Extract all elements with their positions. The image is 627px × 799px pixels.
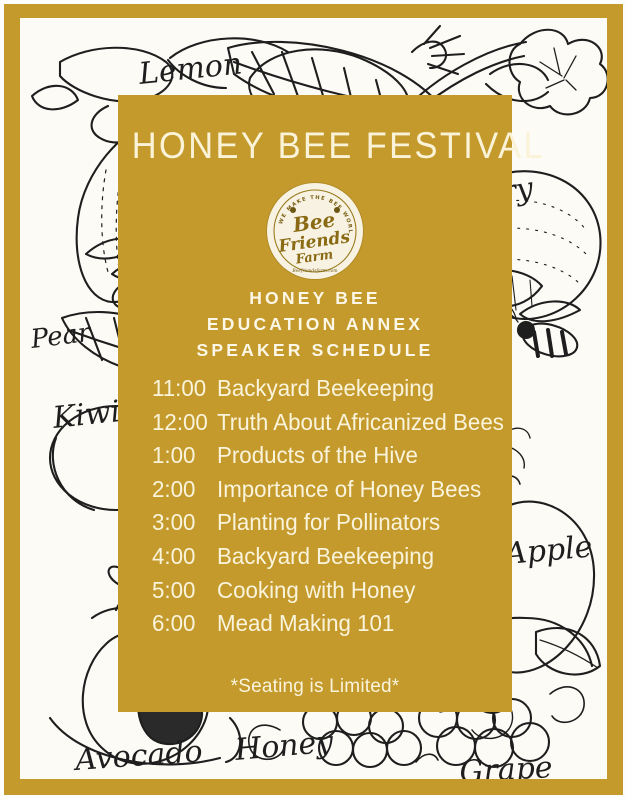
schedule-time: 4:00 bbox=[152, 540, 209, 574]
subtitle-line-3: SPEAKER SCHEDULE bbox=[118, 337, 512, 363]
schedule-time: 12:00 bbox=[152, 406, 209, 440]
subtitle-line-1: HONEY BEE bbox=[118, 285, 512, 311]
speaker-schedule-list: 11:00Backyard Beekeeping12:00Truth About… bbox=[152, 372, 494, 641]
schedule-topic: Cooking with Honey bbox=[217, 574, 415, 608]
logo-badge: WE MAKE THE BEE WORLD Bee Friends Farm B… bbox=[267, 183, 363, 279]
schedule-panel: HONEY BEE FESTIVAL WE MAKE THE BEE WORLD… bbox=[118, 95, 512, 712]
label-honey-text: Honey bbox=[233, 724, 336, 768]
poster-root: Lemon Cherry Pear Kiwi Apple Avocado Hon… bbox=[0, 0, 627, 799]
svg-text:Beefriendsfarm.com: Beefriendsfarm.com bbox=[291, 269, 337, 274]
label-pear-text: Pear bbox=[28, 318, 93, 355]
schedule-topic: Backyard Beekeeping bbox=[217, 372, 434, 406]
schedule-row: 6:00Mead Making 101 bbox=[152, 607, 484, 641]
schedule-topic: Backyard Beekeeping bbox=[217, 540, 434, 574]
page-title: HONEY BEE FESTIVAL bbox=[132, 125, 498, 167]
schedule-time: 3:00 bbox=[152, 506, 209, 540]
schedule-topic: Products of the Hive bbox=[217, 439, 418, 473]
label-kiwi-text: Kiwi bbox=[50, 394, 122, 436]
label-grape-text: Grape bbox=[459, 750, 554, 779]
seating-notice: *Seating is Limited* bbox=[118, 676, 512, 698]
schedule-topic: Mead Making 101 bbox=[217, 607, 394, 641]
schedule-row: 5:00Cooking with Honey bbox=[152, 574, 484, 608]
schedule-row: 3:00Planting for Pollinators bbox=[152, 506, 484, 540]
schedule-time: 1:00 bbox=[152, 439, 209, 473]
schedule-time: 6:00 bbox=[152, 607, 209, 641]
schedule-row: 4:00Backyard Beekeeping bbox=[152, 540, 484, 574]
schedule-row: 12:00Truth About Africanized Bees bbox=[152, 406, 484, 440]
label-lemon-text: Lemon bbox=[136, 46, 244, 92]
schedule-time: 11:00 bbox=[152, 372, 209, 406]
schedule-topic: Planting for Pollinators bbox=[217, 506, 440, 540]
schedule-row: 2:00Importance of Honey Bees bbox=[152, 473, 484, 507]
schedule-row: 1:00Products of the Hive bbox=[152, 439, 484, 473]
schedule-row: 11:00Backyard Beekeeping bbox=[152, 372, 484, 406]
schedule-topic: Importance of Honey Bees bbox=[217, 473, 481, 507]
schedule-time: 5:00 bbox=[152, 574, 209, 608]
subtitle-block: HONEY BEE EDUCATION ANNEX SPEAKER SCHEDU… bbox=[118, 285, 512, 363]
label-apple-text: Apple bbox=[501, 529, 594, 572]
schedule-time: 2:00 bbox=[152, 473, 209, 507]
label-avocado-text: Avocado bbox=[71, 734, 204, 778]
bee-friends-farm-logo: WE MAKE THE BEE WORLD Bee Friends Farm B… bbox=[267, 183, 363, 279]
subtitle-line-2: EDUCATION ANNEX bbox=[118, 311, 512, 337]
schedule-topic: Truth About Africanized Bees bbox=[217, 406, 504, 440]
